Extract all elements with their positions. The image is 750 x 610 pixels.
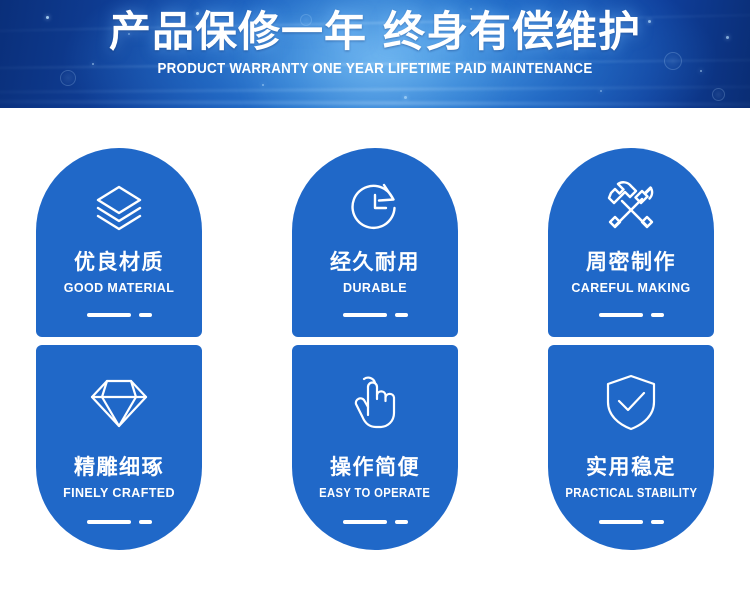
shield-check-icon — [600, 365, 662, 439]
feature-title-cn: 周密制作 — [586, 252, 676, 273]
feature-card-finely-crafted[interactable]: 精雕细琢 FINELY CRAFTED — [36, 345, 202, 550]
divider-long-dash — [87, 313, 131, 317]
feature-title-en: GOOD MATERIAL — [64, 282, 175, 295]
feature-card-grid: 优良材质 GOOD MATERIAL 经久耐用 DURABLE — [0, 108, 750, 550]
divider-short-dash — [651, 520, 664, 524]
divider-short-dash — [395, 520, 408, 524]
diamond-icon — [88, 365, 150, 439]
divider-long-dash — [343, 313, 387, 317]
banner-title-part2: 终身有偿维护 — [383, 8, 641, 55]
clock-arrow-icon — [346, 176, 404, 238]
feature-card-careful-making[interactable]: 周密制作 CAREFUL MAKING — [548, 148, 714, 337]
banner-title: 产品保修一年终身有偿维护 — [0, 9, 750, 55]
banner-sparkle-dot — [600, 90, 602, 92]
feature-card-practical-stability[interactable]: 实用稳定 PRACTICAL STABILITY — [548, 345, 714, 550]
divider-long-dash — [599, 313, 643, 317]
feature-title-cn: 操作简便 — [330, 457, 420, 478]
banner-title-part1: 产品保修一年 — [109, 8, 367, 55]
feature-row-bottom: 精雕细琢 FINELY CRAFTED 操作简便 EASY TO OPERATE — [36, 345, 714, 550]
feature-title-cn: 精雕细琢 — [74, 457, 164, 478]
feature-title-cn: 经久耐用 — [330, 252, 420, 273]
tap-hand-icon — [344, 365, 406, 439]
banner-sparkle-dot — [262, 84, 264, 86]
feature-divider — [87, 520, 152, 524]
feature-divider — [343, 313, 408, 317]
divider-long-dash — [343, 520, 387, 524]
feature-divider — [599, 313, 664, 317]
divider-short-dash — [139, 520, 152, 524]
feature-title-en: PRACTICAL STABILITY — [565, 487, 697, 500]
feature-divider — [87, 313, 152, 317]
layers-icon — [90, 176, 148, 238]
feature-divider — [599, 520, 664, 524]
feature-title-en: EASY TO OPERATE — [319, 487, 430, 500]
feature-row-top: 优良材质 GOOD MATERIAL 经久耐用 DURABLE — [36, 148, 714, 337]
divider-short-dash — [651, 313, 664, 317]
banner-subtitle: PRODUCT WARRANTY ONE YEAR LIFETIME PAID … — [30, 61, 720, 77]
feature-card-good-material[interactable]: 优良材质 GOOD MATERIAL — [36, 148, 202, 337]
banner-bokeh-circle — [712, 88, 725, 101]
feature-card-durable[interactable]: 经久耐用 DURABLE — [292, 148, 458, 337]
feature-title-cn: 优良材质 — [74, 252, 164, 273]
feature-title-en: CAREFUL MAKING — [571, 282, 690, 295]
divider-short-dash — [139, 313, 152, 317]
feature-divider — [343, 520, 408, 524]
feature-card-easy-to-operate[interactable]: 操作简便 EASY TO OPERATE — [292, 345, 458, 550]
banner-sparkle-dot — [404, 96, 407, 99]
feature-title-en: DURABLE — [343, 282, 407, 295]
hammer-wrench-icon — [602, 176, 660, 238]
page-banner: 产品保修一年终身有偿维护 PRODUCT WARRANTY ONE YEAR L… — [0, 0, 750, 108]
feature-title-cn: 实用稳定 — [586, 457, 676, 478]
divider-long-dash — [599, 520, 643, 524]
feature-title-en: FINELY CRAFTED — [63, 487, 175, 500]
divider-short-dash — [395, 313, 408, 317]
divider-long-dash — [87, 520, 131, 524]
